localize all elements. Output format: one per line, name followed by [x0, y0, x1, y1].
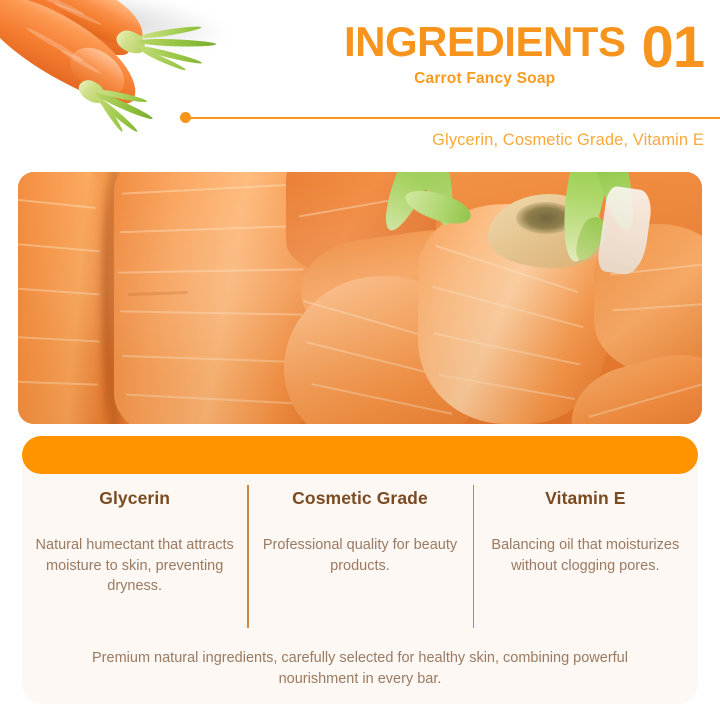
divider-line	[188, 117, 720, 119]
carrot-photo-content	[18, 172, 702, 424]
ingredient-title: Cosmetic Grade	[257, 488, 462, 509]
ingredient-column-vitamin-e: Vitamin E Balancing oil that moisturizes…	[473, 480, 698, 630]
ingredients-summary: Glycerin, Cosmetic Grade, Vitamin E	[432, 131, 704, 150]
footer-note: Premium natural ingredients, carefully s…	[60, 648, 660, 690]
ingredient-description: Professional quality for beauty products…	[257, 535, 462, 576]
ingredient-columns: Glycerin Natural humectant that attracts…	[22, 480, 698, 630]
page-subtitle: Carrot Fancy Soap	[344, 70, 626, 88]
accent-bar	[22, 436, 698, 474]
carrot-photo	[18, 172, 702, 424]
ingredient-column-glycerin: Glycerin Natural humectant that attracts…	[22, 480, 247, 630]
ingredient-title: Vitamin E	[483, 488, 688, 509]
ingredient-description: Natural humectant that attracts moisture…	[32, 535, 237, 597]
ingredient-title: Glycerin	[32, 488, 237, 509]
photo-vignette	[18, 172, 702, 424]
header: INGREDIENTS Carrot Fancy Soap 01 Glyceri…	[0, 0, 720, 165]
section-number: 01	[641, 20, 704, 75]
header-divider	[180, 112, 720, 124]
header-title-row: INGREDIENTS Carrot Fancy Soap 01	[300, 20, 704, 88]
ingredients-poster: INGREDIENTS Carrot Fancy Soap 01 Glyceri…	[0, 0, 720, 720]
ingredient-column-cosmetic-grade: Cosmetic Grade Professional quality for …	[247, 480, 472, 630]
header-title-block: INGREDIENTS Carrot Fancy Soap	[344, 20, 626, 88]
ingredient-description: Balancing oil that moisturizes without c…	[483, 535, 688, 576]
page-title: INGREDIENTS	[344, 20, 626, 64]
